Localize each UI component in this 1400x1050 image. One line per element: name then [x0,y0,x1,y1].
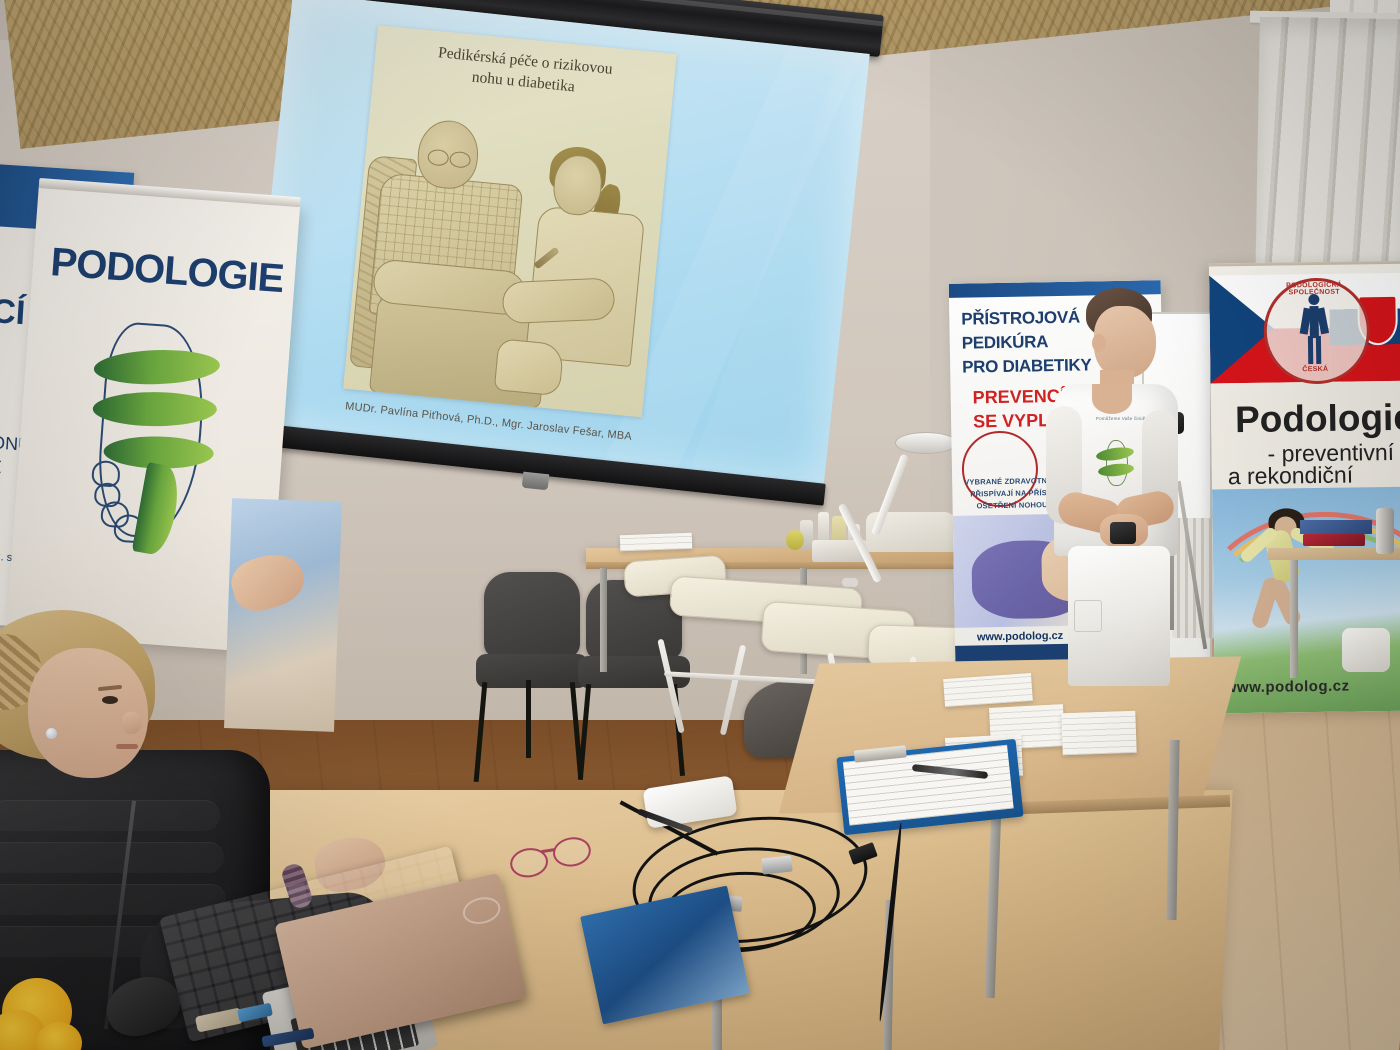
illustration-podiatrist-arm [502,277,616,324]
presentation-clicker[interactable] [1110,522,1136,544]
red-case [1303,534,1365,546]
chair-leg [526,680,531,758]
white-towel [1342,628,1390,672]
vest-quilt-line-2 [0,842,224,873]
foot-ribbon-logo [78,310,236,570]
chair-frame-bar-1 [657,639,684,734]
side-table-leg [1290,560,1298,678]
figure-leg-right [1316,336,1321,364]
illustration-foot [494,338,565,396]
tripod-leg-right [1177,481,1208,650]
flower-head-3 [36,1022,82,1050]
table-leg [600,568,607,672]
conference-room-photo: Pedikérská péče o rizikovou nohu u diabe… [0,0,1400,1050]
banner-mid-line2: PEDIKÚRA [962,332,1049,354]
presenter-v-neckline [1092,384,1132,414]
attendee-eye [102,696,118,704]
presenter-trouser-pocket [1074,600,1102,632]
attendee-earring [46,728,57,739]
banner-right-url: www.podolog.cz [1225,678,1350,697]
banner-podologie-title: PODOLOGIE [46,240,289,302]
glasses-lens-right [551,835,593,870]
banner-hands-photo [224,498,342,732]
chair-backrest [484,572,580,658]
banner-right-title: Podologie [1235,397,1400,441]
human-figure-icon [1301,294,1326,364]
chair-frame-bar-2 [720,645,747,736]
yellow-flowers [0,968,98,1050]
figure-leg-left [1308,336,1313,364]
screen-pull-handle[interactable] [522,472,550,491]
vest-quilt-line-1 [0,800,220,831]
projected-slide: Pedikérská péče o rizikovou nohu u diabe… [247,0,870,487]
thermos-bottle [1376,508,1394,554]
seal-text-bottom: ČESKÁ [1284,366,1346,374]
presenter-ear [1092,334,1106,352]
chair-leg [474,682,488,782]
supply-yellow-item [786,530,804,550]
certificate-paper-2 [1061,711,1136,756]
slide-title: Pedikérská péče o rizikovou nohu u diabe… [381,38,668,107]
attendee-mouth [116,744,138,749]
attendee-nose [122,712,142,734]
slide-illustration-panel: Pedikérská péče o rizikovou nohu u diabe… [343,25,677,417]
banner-partial-line1: CÍ [0,292,26,333]
magazine-stack [1300,520,1372,534]
magnifying-lamp-head [895,432,957,454]
shirt-logo-ribbon-2 [1097,462,1134,478]
usb-connector-a [761,855,793,874]
ribbon-coil-2 [93,392,217,426]
projector-screen: Pedikérská péče o rizikovou nohu u diabe… [232,0,884,532]
hp-logo-icon [460,894,503,928]
paper-on-supply-table [620,533,693,552]
presenter-shirt-logo [1094,438,1136,486]
chair-leg [578,684,591,780]
seal-text-top: PODOLOGICKÁ SPOLEČNOST [1271,281,1357,296]
banner-partial-line4: SE [0,456,2,478]
presenter: Pomůžeme Vaše činidla [1038,288,1178,673]
shirt-logo-ribbon-1 [1095,445,1134,462]
